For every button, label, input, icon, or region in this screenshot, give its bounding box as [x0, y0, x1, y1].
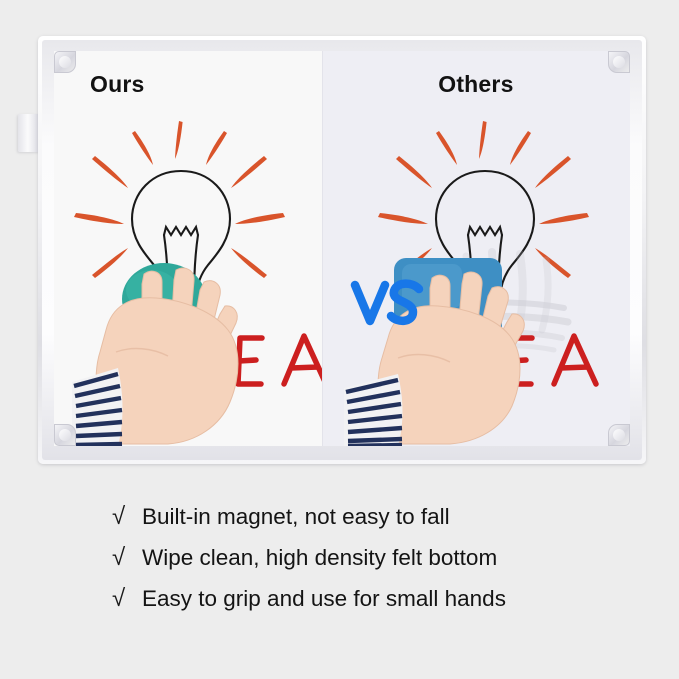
panel-others: Others [322, 51, 630, 446]
feature-item-label: Wipe clean, high density felt bottom [142, 545, 497, 570]
feature-list: √ Built-in magnet, not easy to fall √ Wi… [112, 504, 582, 628]
panel-divider [322, 51, 323, 446]
frame-corner-top-left [54, 51, 76, 73]
vs-badge: VS [349, 277, 427, 329]
feature-item: √ Easy to grip and use for small hands [112, 586, 582, 611]
panel-others-title: Others [322, 71, 630, 98]
feature-item-label: Built-in magnet, not easy to fall [142, 504, 450, 529]
left-wall-mount-bracket [18, 114, 40, 152]
frame-corner-bottom-right [608, 424, 630, 446]
panel-ours: Ours [54, 51, 322, 446]
frame-corner-bottom-left [54, 424, 76, 446]
whiteboard: Ours [38, 36, 646, 464]
feature-item: √ Built-in magnet, not easy to fall [112, 504, 582, 529]
panel-ours-title: Ours [90, 71, 144, 98]
checkmark-icon: √ [112, 546, 142, 570]
child-hand-with-eraser-ours [72, 256, 287, 446]
frame-corner-top-right [608, 51, 630, 73]
feature-item-label: Easy to grip and use for small hands [142, 586, 506, 611]
checkmark-icon: √ [112, 587, 142, 611]
whiteboard-surface: Ours [54, 51, 630, 446]
feature-item: √ Wipe clean, high density felt bottom [112, 545, 582, 570]
product-infographic: Ours [0, 0, 679, 679]
comparison-panels: Ours [54, 51, 630, 446]
checkmark-icon: √ [112, 505, 142, 529]
